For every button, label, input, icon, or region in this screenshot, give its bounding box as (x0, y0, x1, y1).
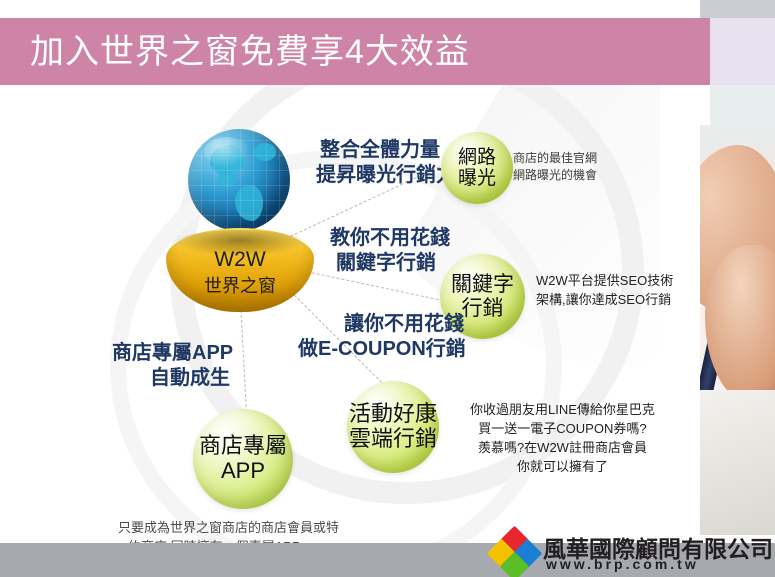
connector-to-app (240, 300, 247, 412)
sphere-keyword-line2: 行銷 (462, 297, 504, 321)
branch-keyword-line1: 教你不用花錢 (330, 226, 450, 251)
center-node-name: W2W (166, 248, 314, 272)
photo-paper (700, 390, 775, 535)
page-title: 加入世界之窗免費享4大效益 (30, 27, 470, 77)
sphere-web-line1: 網路 (458, 147, 496, 168)
note-keyword-line1: W2W平台提供SEO技術 (536, 273, 673, 288)
sphere-web-exposure[interactable]: 網路 曝光 (441, 132, 513, 204)
branch-coupon-line2: 做E-COUPON行銷 (298, 337, 466, 362)
branch-app-line1: 商店專屬APP (112, 341, 233, 366)
background-panel-gray (700, 0, 775, 18)
note-cloud-line1: 你收過朋友用LINE傳給你星巴克 (470, 402, 655, 417)
note-web-exposure: 商店的最佳官網 網路曝光的機會 (513, 150, 597, 185)
globe-highlight (204, 137, 250, 167)
company-logo-icon (491, 531, 537, 575)
sphere-store-app[interactable]: 商店專屬 APP (193, 409, 293, 509)
note-web-line2: 網路曝光的機會 (513, 168, 597, 182)
sphere-cloud-line1: 活動好康 (349, 402, 437, 427)
background-panel-pale (710, 85, 775, 125)
sphere-app-line2: APP (221, 459, 265, 484)
background-panel-lilac (710, 18, 775, 85)
branch-label-app: 商店專屬APP 自動成生 (112, 341, 233, 391)
slide-canvas: 加入世界之窗免費享4大效益 W2W 世界之窗 整合全體力量 提昇曝光行銷力 網路… (0, 0, 775, 577)
note-cloud-line2: 買一送一電子COUPON券嗎? (478, 421, 646, 436)
hand-with-pen-photo (700, 125, 775, 535)
photo-hand-lower (705, 245, 775, 405)
note-app-line1: 只要成為世界之窗商店的商店會員或特 (118, 520, 339, 535)
sphere-cloud-marketing[interactable]: 活動好康 雲端行銷 (347, 381, 439, 473)
note-cloud-line4: 你就可以擁有了 (517, 459, 608, 474)
company-website[interactable]: www.brp.com.tw (546, 556, 699, 572)
sphere-app-line1: 商店專屬 (199, 434, 287, 459)
branch-app-line2: 自動成生 (150, 366, 233, 391)
note-cloud-marketing: 你收過朋友用LINE傳給你星巴克 買一送一電子COUPON券嗎? 羨慕嗎?在W2… (470, 401, 655, 476)
sphere-cloud-line2: 雲端行銷 (349, 427, 437, 452)
globe-icon (188, 129, 290, 231)
sphere-keyword-line1: 關鍵字 (451, 273, 514, 297)
branch-keyword-line2: 關鍵字行銷 (336, 251, 450, 276)
note-cloud-line3: 羨慕嗎?在W2W註冊商店會員 (478, 440, 647, 455)
branch-web-line2: 提昇曝光行銷力 (316, 163, 456, 188)
branch-label-coupon: 讓你不用花錢 做E-COUPON行銷 (298, 312, 466, 362)
branch-label-keyword: 教你不用花錢 關鍵字行銷 (330, 226, 450, 276)
branch-web-line1: 整合全體力量 (320, 138, 456, 163)
note-keyword-marketing: W2W平台提供SEO技術 架構,讓你達成SEO行銷 (536, 272, 673, 310)
note-keyword-line2: 架構,讓你達成SEO行銷 (536, 292, 671, 307)
center-node-subtitle: 世界之窗 (166, 272, 314, 298)
branch-label-web: 整合全體力量 提昇曝光行銷力 (320, 138, 456, 188)
branch-coupon-line1: 讓你不用花錢 (344, 312, 466, 337)
sphere-web-line2: 曝光 (458, 168, 496, 189)
note-web-line1: 商店的最佳官網 (513, 151, 597, 165)
